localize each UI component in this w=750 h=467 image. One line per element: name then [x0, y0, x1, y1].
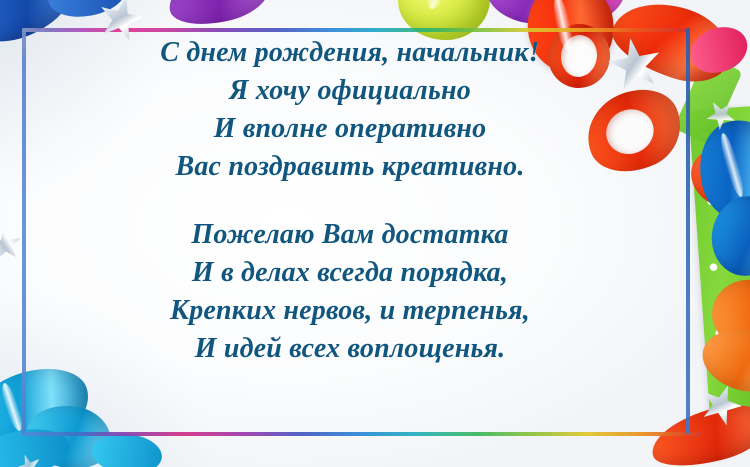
poem-line-2: Я хочу официально — [40, 72, 660, 110]
poem-line-7: Крепких нервов, и терпенья, — [40, 292, 660, 330]
poem-line-3: И вполне оперативно — [40, 110, 660, 148]
poem-line-4: Вас поздравить креативно. — [40, 148, 660, 186]
greeting-poem: С днем рождения, начальник! Я хочу офици… — [40, 34, 660, 368]
poem-line-1: С днем рождения, начальник! — [40, 34, 660, 72]
stanza-separator — [40, 186, 660, 216]
frame-border-right — [686, 28, 690, 434]
frame-border-left — [22, 28, 26, 434]
poem-line-5: Пожелаю Вам достатка — [40, 216, 660, 254]
poem-line-8: И идей всех воплощенья. — [40, 330, 660, 368]
greeting-card: С днем рождения, начальник! Я хочу офици… — [0, 0, 750, 467]
frame-border-top — [22, 28, 690, 32]
poem-line-6: И в делах всегда порядка, — [40, 254, 660, 292]
frame-border-bottom — [22, 432, 702, 436]
